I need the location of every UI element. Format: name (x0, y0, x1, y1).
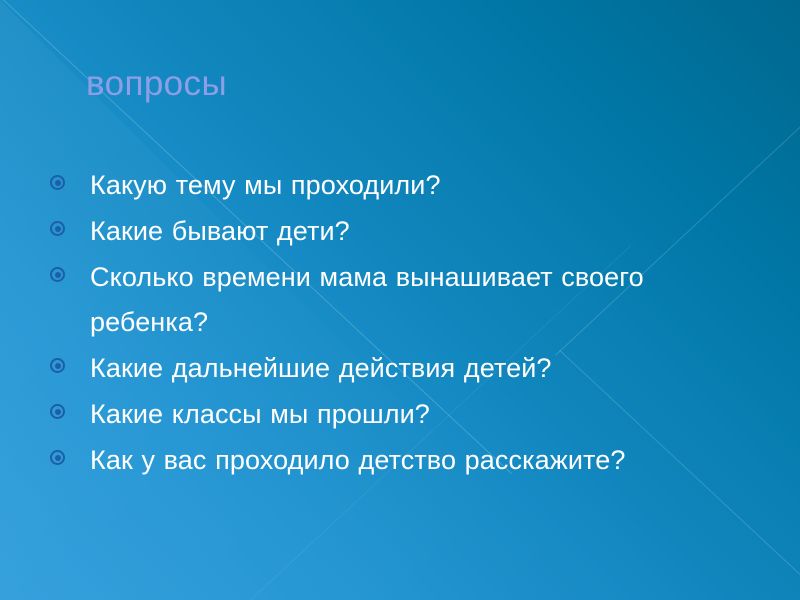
list-item: Какие дальнейшие действия детей? (44, 346, 744, 391)
list-item: Какие классы мы прошли? (44, 392, 744, 437)
bullseye-bullet-icon (50, 358, 65, 373)
list-item-text: Какие классы мы прошли? (90, 392, 744, 437)
bullseye-bullet-icon (50, 221, 65, 236)
slide-title: вопросы (86, 62, 227, 106)
bullseye-bullet-icon (50, 175, 65, 190)
list-item: Сколько времени мама вынашивает своего р… (44, 255, 744, 345)
list-item-text: Какие бывают дети? (90, 209, 744, 254)
bullet-list: Какую тему мы проходили? Какие бывают де… (44, 163, 744, 484)
list-item: Как у вас проходило детство расскажите? (44, 438, 744, 483)
presentation-slide: вопросы Какую тему мы проходили? Какие б… (0, 0, 800, 600)
bullseye-bullet-icon (50, 450, 65, 465)
bullseye-bullet-icon (50, 267, 65, 282)
list-item-text: Сколько времени мама вынашивает своего р… (90, 255, 650, 345)
list-item-text: Какую тему мы проходили? (90, 163, 744, 208)
list-item: Какие бывают дети? (44, 209, 744, 254)
list-item-text: Какие дальнейшие действия детей? (90, 346, 744, 391)
list-item-text: Как у вас проходило детство расскажите? (90, 438, 650, 483)
bullseye-bullet-icon (50, 404, 65, 419)
list-item: Какую тему мы проходили? (44, 163, 744, 208)
